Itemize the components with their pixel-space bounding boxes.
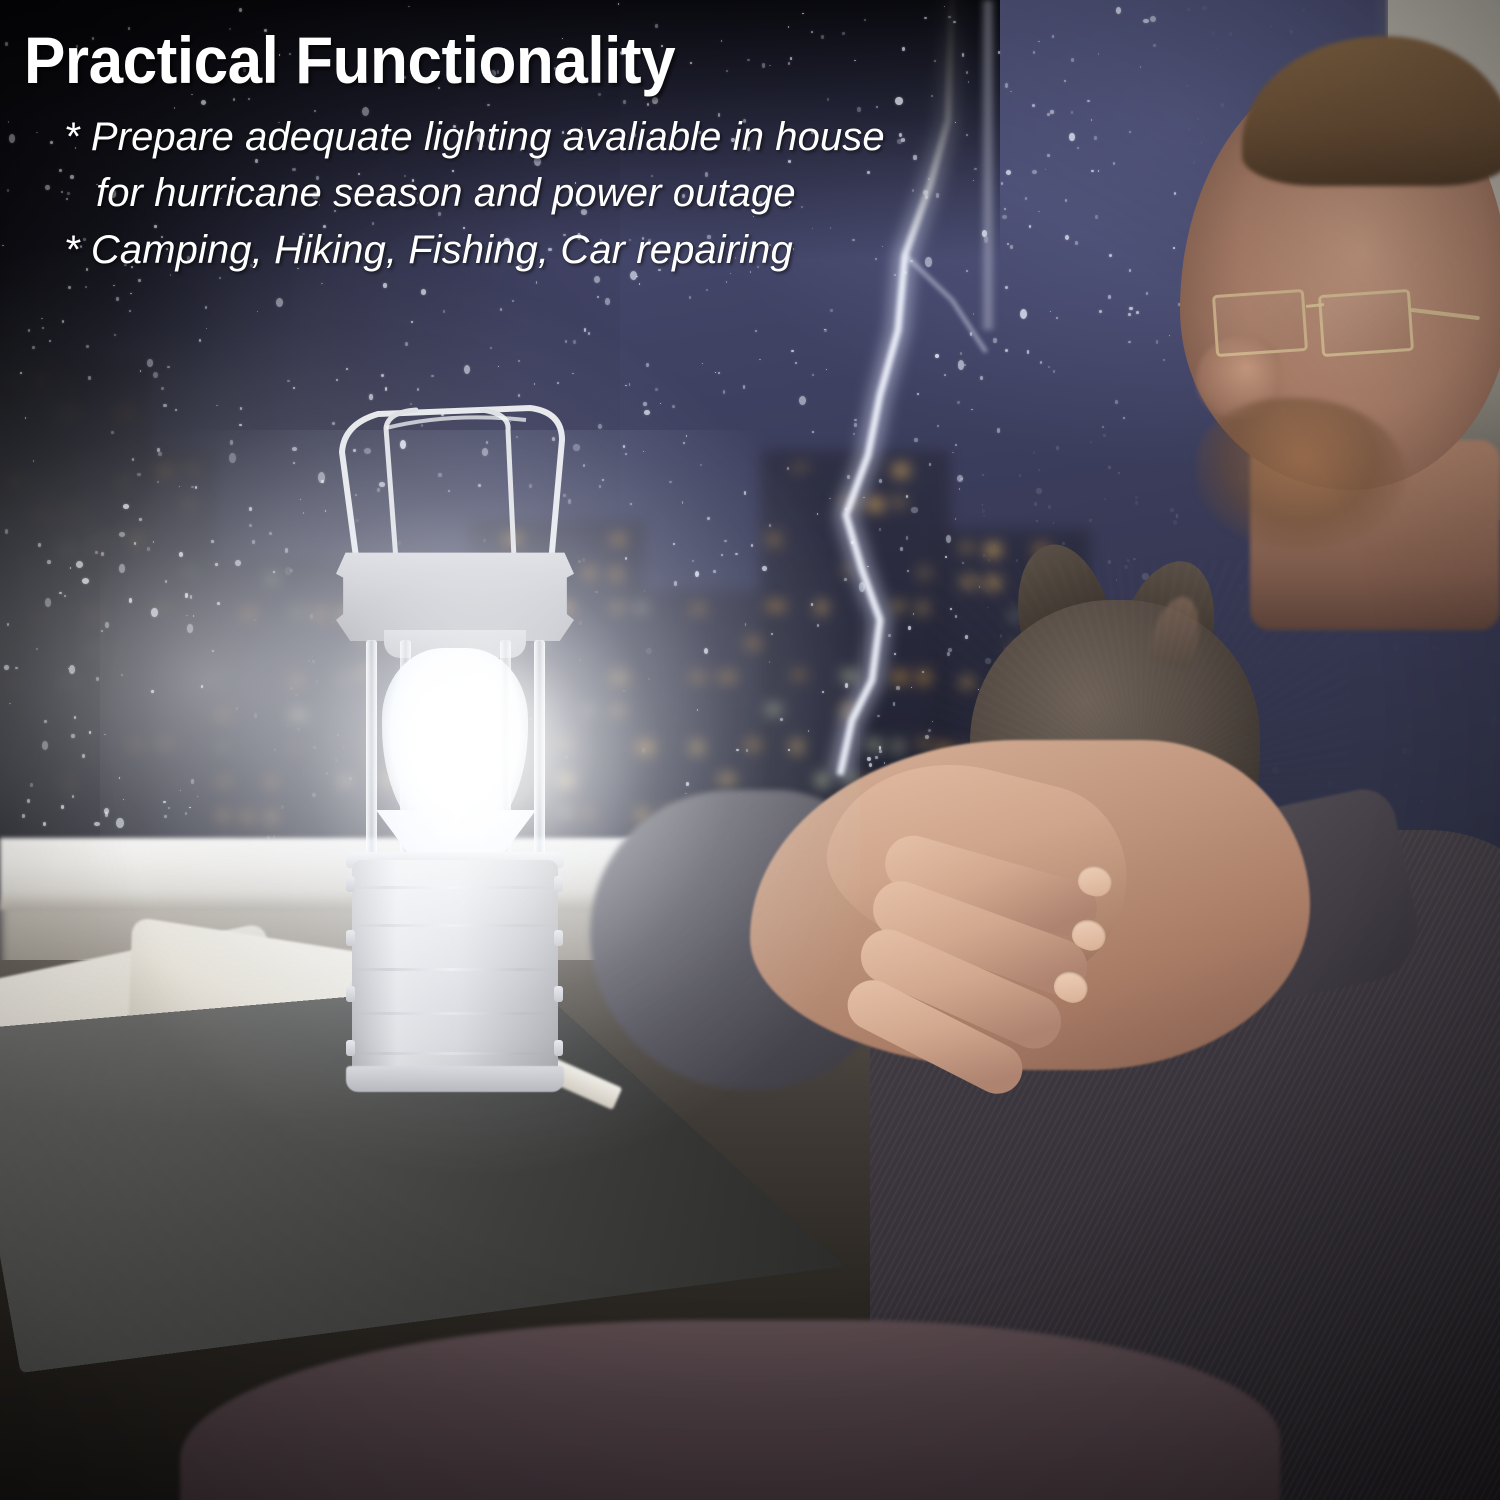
rain-droplet <box>853 433 855 435</box>
rain-droplet <box>70 567 71 569</box>
rain-droplet <box>101 630 103 632</box>
rain-droplet <box>185 812 187 815</box>
rain-droplet <box>249 524 252 527</box>
rain-droplet <box>179 486 180 487</box>
rain-droplet <box>867 566 868 568</box>
rain-droplet <box>137 473 140 476</box>
lantern-post <box>366 640 377 854</box>
rain-droplet <box>211 540 213 543</box>
rain-droplet <box>808 730 810 731</box>
rain-droplet <box>346 368 347 370</box>
rain-droplet <box>518 360 520 362</box>
rain-droplet <box>973 313 975 315</box>
rain-droplet <box>32 346 35 349</box>
rain-droplet <box>38 543 41 547</box>
rain-droplet <box>165 580 167 583</box>
rain-droplet <box>94 822 99 826</box>
rain-droplet <box>644 590 646 592</box>
rain-droplet <box>982 474 984 476</box>
rain-droplet <box>186 615 188 617</box>
rain-droplet <box>191 486 194 489</box>
rain-droplet <box>695 571 699 577</box>
rain-droplet <box>755 330 758 333</box>
rain-droplet <box>625 557 627 560</box>
rain-droplet <box>229 453 236 463</box>
rain-droplet <box>643 402 646 406</box>
lantern-barrel-notch <box>554 1040 563 1056</box>
rain-droplet <box>906 495 908 498</box>
rain-droplet <box>929 463 931 465</box>
man-hair <box>1242 36 1500 186</box>
rain-droplet <box>911 507 918 512</box>
rain-droplet <box>151 690 154 694</box>
rain-droplet <box>879 528 881 531</box>
rain-droplet <box>812 431 814 433</box>
rain-droplet <box>290 687 293 690</box>
rain-droplet <box>257 311 258 313</box>
rain-droplet <box>706 289 707 291</box>
lantern-barrel-body <box>352 860 558 1080</box>
lantern-barrel-notch <box>346 1040 355 1056</box>
rain-droplet <box>970 332 973 336</box>
rain-droplet <box>236 707 238 710</box>
rain-droplet <box>33 460 34 462</box>
rain-droplet <box>381 374 384 377</box>
lantern-barrel-notch <box>346 930 355 946</box>
rain-droplet <box>1005 286 1008 289</box>
rain-droplet <box>817 513 819 516</box>
rain-droplet <box>7 623 9 626</box>
rain-droplet <box>114 334 116 335</box>
rain-droplet <box>718 372 719 374</box>
rain-droplet <box>689 296 691 299</box>
rain-droplet <box>119 532 125 537</box>
rain-droplet <box>161 387 164 390</box>
led-camping-lantern <box>300 390 610 1040</box>
rain-droplet <box>431 375 434 377</box>
rain-droplet <box>964 364 966 366</box>
rain-droplet <box>421 289 426 294</box>
rain-droplet <box>683 442 685 444</box>
rain-droplet <box>104 808 109 814</box>
rain-droplet <box>702 363 704 364</box>
rain-droplet <box>746 749 749 751</box>
rain-droplet <box>697 709 698 710</box>
rain-droplet <box>896 686 899 690</box>
rain-droplet <box>71 734 74 738</box>
rain-droplet <box>952 452 954 453</box>
rain-droplet <box>138 279 141 283</box>
rain-droplet <box>405 342 408 346</box>
rain-droplet <box>877 715 880 717</box>
rain-droplet <box>879 479 882 483</box>
eyeglass-lens-near <box>1318 289 1414 357</box>
rain-droplet <box>884 762 885 764</box>
rain-droplet <box>175 409 177 411</box>
rain-droplet <box>762 566 766 571</box>
rain-droplet <box>269 532 272 536</box>
rain-droplet <box>672 405 675 408</box>
rain-droplet <box>847 475 850 479</box>
rain-droplet <box>5 529 8 534</box>
rain-droplet <box>707 517 710 520</box>
rain-droplet <box>498 366 500 367</box>
rain-droplet <box>845 508 847 510</box>
marketing-copy: Practical Functionality * Prepare adequa… <box>0 0 1100 279</box>
rain-droplet <box>254 619 256 621</box>
rain-droplet <box>157 481 159 483</box>
rain-droplet <box>844 578 847 582</box>
rain-droplet <box>89 731 92 734</box>
rain-droplet <box>9 703 11 705</box>
rain-droplet <box>826 369 827 370</box>
rain-droplet <box>59 592 62 594</box>
feature-bullet-list: * Prepare adequate lighting avaliable in… <box>24 109 1100 279</box>
rain-droplet <box>85 286 87 288</box>
lantern-barrel-base <box>346 1066 564 1092</box>
rain-droplet <box>788 749 789 751</box>
rain-droplet <box>201 685 203 688</box>
rain-droplet <box>116 818 123 828</box>
rain-droplet <box>1005 349 1008 352</box>
rain-droplet <box>104 734 106 735</box>
rain-droplet <box>287 380 289 382</box>
rain-droplet <box>42 327 44 328</box>
rain-droplet <box>945 556 946 558</box>
rain-droplet <box>682 501 683 503</box>
rain-droplet <box>536 281 538 284</box>
rain-droplet <box>646 648 652 654</box>
lantern-barrel-notch <box>346 986 355 1002</box>
rain-droplet <box>158 452 161 456</box>
rain-droplet <box>130 293 131 294</box>
rain-droplet <box>252 540 255 544</box>
rain-droplet <box>955 444 957 446</box>
rain-droplet <box>824 329 827 332</box>
rain-droplet <box>292 447 298 451</box>
rain-droplet <box>43 822 46 826</box>
rain-droplet <box>867 757 871 761</box>
rain-droplet <box>946 535 951 543</box>
rain-droplet <box>906 536 908 540</box>
rain-droplet <box>704 648 708 654</box>
rain-droplet <box>869 763 872 767</box>
rain-droplet <box>911 687 912 688</box>
rain-droplet <box>629 383 631 385</box>
rain-droplet <box>293 387 294 388</box>
rain-droplet <box>759 359 761 361</box>
rain-droplet <box>111 431 114 433</box>
rain-droplet <box>983 515 985 517</box>
feature-bullet: * Camping, Hiking, Fishing, Car repairin… <box>64 222 1100 279</box>
rain-droplet <box>15 667 18 669</box>
rain-droplet <box>197 796 198 797</box>
rain-droplet <box>168 807 170 809</box>
rain-droplet <box>958 360 964 369</box>
rain-droplet <box>28 329 30 332</box>
rain-droplet <box>908 626 910 630</box>
rain-droplet <box>36 648 38 650</box>
rain-droplet <box>917 393 919 395</box>
rain-droplet <box>215 563 218 566</box>
rain-droplet <box>685 793 687 795</box>
lantern-barrel-ring <box>352 886 558 889</box>
rain-droplet <box>383 283 387 287</box>
rain-droplet <box>751 544 753 547</box>
rain-droplet <box>30 783 33 787</box>
rain-droplet <box>799 396 806 406</box>
feature-bullet: * Prepare adequate lighting avaliable in… <box>64 109 1100 166</box>
rain-droplet <box>82 754 85 758</box>
product-lifestyle-banner: Practical Functionality * Prepare adequa… <box>0 0 1500 1500</box>
rain-droplet <box>769 524 771 527</box>
rain-droplet <box>982 504 983 506</box>
rain-droplet <box>68 286 71 289</box>
lantern-barrel-ring <box>352 968 558 971</box>
rain-droplet <box>829 498 831 500</box>
rain-droplet <box>206 328 207 329</box>
rain-droplet <box>982 509 985 513</box>
rain-droplet <box>913 613 914 614</box>
rain-droplet <box>240 407 242 410</box>
rain-droplet <box>500 308 502 310</box>
rain-droplet <box>673 543 675 545</box>
rain-droplet <box>295 694 298 697</box>
rain-droplet <box>119 777 120 779</box>
rain-droplet <box>660 403 661 404</box>
page-title: Practical Functionality <box>24 26 1035 95</box>
rain-droplet <box>900 547 903 552</box>
rain-droplet <box>239 424 241 426</box>
rain-droplet <box>147 359 153 367</box>
rain-droplet <box>86 345 89 348</box>
rain-droplet <box>648 678 650 680</box>
rain-droplet <box>937 425 939 427</box>
rain-droplet <box>646 363 649 367</box>
rain-droplet <box>290 569 293 572</box>
rain-droplet <box>199 339 201 342</box>
rain-droplet <box>69 665 75 674</box>
rain-droplet <box>830 309 832 312</box>
rain-droplet <box>854 419 856 421</box>
rain-droplet <box>623 445 625 448</box>
rain-droplet <box>113 285 115 287</box>
rain-droplet <box>179 552 183 557</box>
rain-droplet <box>153 541 154 543</box>
rain-droplet <box>625 385 627 386</box>
rain-droplet <box>321 283 323 285</box>
eyeglass-lens-far <box>1212 289 1308 357</box>
rain-droplet <box>147 547 150 550</box>
rain-droplet <box>980 376 983 380</box>
rain-droplet <box>4 665 9 669</box>
rain-droplet <box>187 624 193 632</box>
rain-droplet <box>96 677 99 682</box>
rain-droplet <box>780 718 783 721</box>
rain-droplet <box>216 405 217 406</box>
rain-droplet <box>859 582 866 592</box>
lantern-barrel-notch <box>554 986 563 1002</box>
rain-droplet <box>464 365 470 374</box>
rain-droplet <box>669 481 671 483</box>
rain-droplet <box>47 560 51 564</box>
rain-droplet <box>743 385 746 389</box>
rain-droplet <box>88 376 91 379</box>
rain-droplet <box>212 650 214 653</box>
rain-droplet <box>140 370 141 372</box>
rain-droplet <box>121 674 124 676</box>
rain-droplet <box>851 541 853 544</box>
rain-droplet <box>902 286 903 288</box>
rain-droplet <box>625 453 627 455</box>
rain-droplet <box>25 417 27 420</box>
rain-droplet <box>863 497 865 499</box>
rain-droplet <box>997 428 1000 432</box>
lantern-post <box>534 640 545 854</box>
rain-droplet <box>623 690 625 692</box>
rain-droplet <box>235 560 241 566</box>
feature-bullet: for hurricane season and power outage <box>64 165 1100 222</box>
rain-droplet <box>565 340 567 343</box>
rain-droplet <box>230 440 233 445</box>
rain-droplet <box>721 554 723 556</box>
rain-droplet <box>879 750 882 753</box>
rain-droplet <box>822 691 823 693</box>
rain-droplet <box>914 438 917 442</box>
rain-droplet <box>217 602 220 605</box>
rain-droplet <box>411 321 413 323</box>
rain-droplet <box>791 350 793 352</box>
rain-droplet <box>935 354 939 358</box>
rain-droplet <box>811 603 813 606</box>
rain-droplet <box>605 298 609 305</box>
rain-droplet <box>955 518 957 520</box>
rain-droplet <box>62 320 64 323</box>
lantern-barrel-notch <box>554 930 563 946</box>
rain-droplet <box>191 779 194 784</box>
rain-droplet <box>597 296 599 298</box>
rain-droplet <box>180 790 181 792</box>
rain-droplet <box>644 410 650 415</box>
rain-droplet <box>534 383 536 385</box>
rain-droplet <box>49 340 50 342</box>
rain-droplet <box>74 716 76 719</box>
rain-droplet <box>769 661 771 663</box>
rain-droplet <box>249 507 252 511</box>
rain-droplet <box>944 374 946 376</box>
rain-droplet <box>512 300 514 302</box>
rain-droplet <box>845 683 848 688</box>
rain-droplet <box>42 741 48 749</box>
rain-droplet <box>584 328 587 331</box>
rain-droplet <box>276 298 283 307</box>
rain-droplet <box>95 551 98 555</box>
rain-droplet <box>129 598 132 602</box>
rain-droplet <box>190 595 192 599</box>
lantern-barrel-ring <box>352 1012 558 1015</box>
rain-droplet <box>132 458 134 461</box>
rain-droplet <box>745 623 747 626</box>
rain-droplet <box>163 801 165 803</box>
rain-droplet <box>273 571 275 573</box>
rain-droplet <box>715 372 717 373</box>
rain-droplet <box>983 554 985 556</box>
rain-droplet <box>817 624 819 627</box>
rain-droplet <box>27 799 30 803</box>
rain-droplet <box>45 598 51 607</box>
rain-droplet <box>123 799 125 800</box>
rain-droplet <box>994 545 995 546</box>
rain-droplet <box>643 451 644 453</box>
rain-droplet <box>736 749 739 752</box>
rain-droplet <box>925 735 929 739</box>
rain-droplet <box>875 756 878 759</box>
rain-droplet <box>20 372 22 374</box>
rain-droplet <box>22 814 25 818</box>
rain-droplet <box>674 581 677 586</box>
rain-droplet <box>189 807 191 809</box>
rain-droplet <box>655 388 658 391</box>
rain-droplet <box>642 748 645 753</box>
rain-droplet <box>64 595 66 597</box>
rain-droplet <box>72 795 74 798</box>
rain-droplet <box>134 542 136 544</box>
rain-droplet <box>723 390 726 394</box>
rain-droplet <box>971 409 973 411</box>
rain-droplet <box>164 815 167 818</box>
rain-droplet <box>894 653 896 655</box>
rain-droplet <box>193 615 194 617</box>
man-hand <box>828 770 1208 1130</box>
rain-droplet <box>588 332 591 335</box>
rain-droplet <box>163 404 167 408</box>
rain-droplet <box>443 310 445 312</box>
rain-droplet <box>959 488 960 490</box>
rain-droplet <box>101 552 104 556</box>
rain-droplet <box>490 347 491 349</box>
rain-droplet <box>771 633 773 635</box>
rain-droplet <box>630 503 631 504</box>
rain-droplet <box>195 486 197 489</box>
lantern-top-cap <box>336 545 574 641</box>
rain-droplet <box>713 570 716 573</box>
rain-droplet <box>573 340 576 344</box>
rain-droplet <box>274 749 276 752</box>
rain-droplet <box>726 281 728 283</box>
rain-droplet <box>692 560 694 562</box>
rain-droplet <box>787 467 789 470</box>
rain-droplet <box>44 720 46 723</box>
rain-droplet <box>167 366 169 368</box>
lantern-barrel-notch <box>346 876 355 892</box>
rain-droplet <box>185 593 188 598</box>
rain-droplet <box>129 310 131 312</box>
lantern-barrel-ring <box>352 924 558 927</box>
rain-droplet <box>105 622 108 627</box>
rain-droplet <box>744 491 746 495</box>
rain-droplet <box>907 570 909 572</box>
rain-droplet <box>76 561 83 568</box>
rain-droplet <box>686 435 687 437</box>
rain-droplet <box>557 382 559 384</box>
rain-droplet <box>993 338 996 343</box>
rain-droplet <box>893 702 896 706</box>
rain-droplet <box>119 564 125 572</box>
rain-droplet <box>795 362 797 364</box>
rain-droplet <box>123 504 129 509</box>
rain-droplet <box>41 318 43 320</box>
rain-droplet <box>960 352 962 355</box>
